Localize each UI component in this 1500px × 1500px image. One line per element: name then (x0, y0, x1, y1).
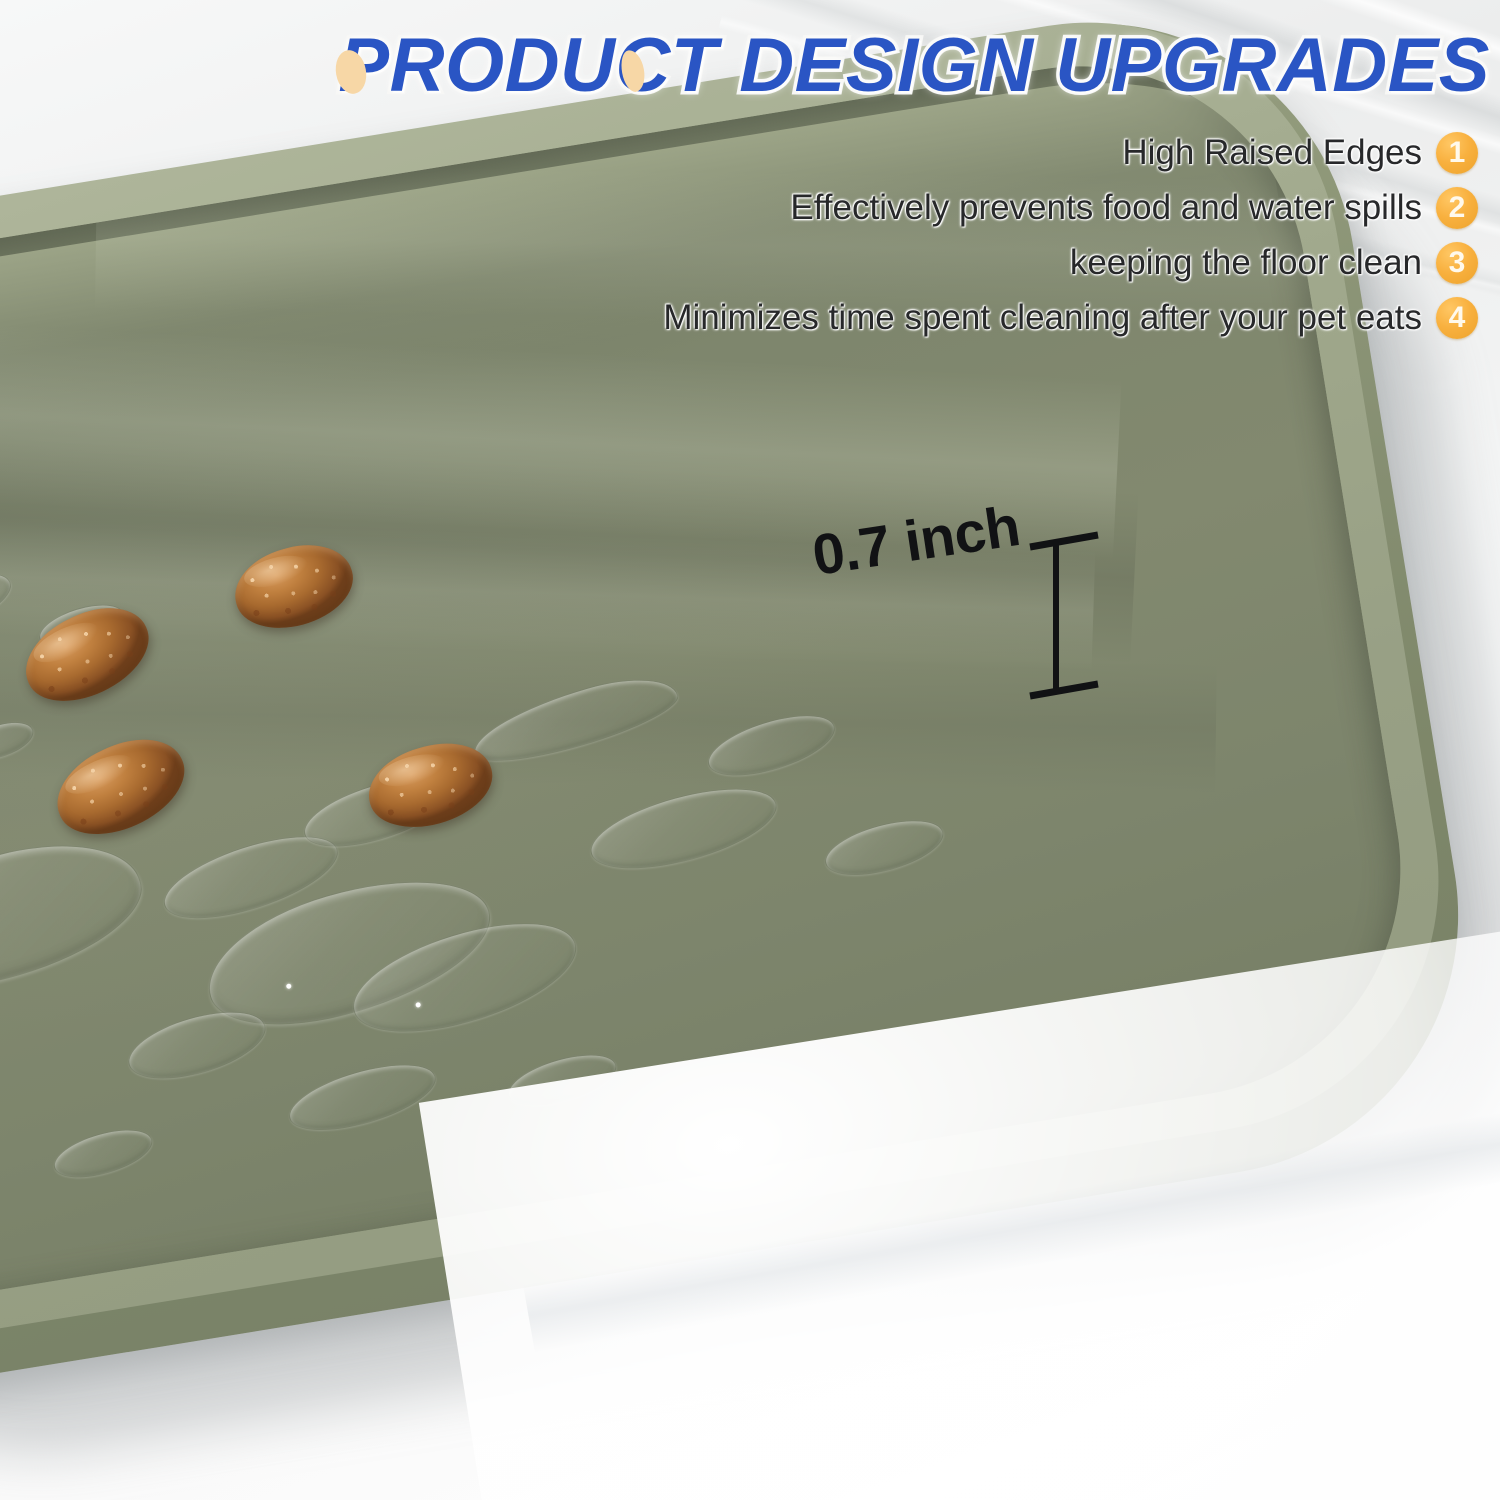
feature-label: High Raised Edges (1122, 133, 1422, 173)
kibble-piece (43, 722, 199, 852)
feature-item-1: High Raised Edges 1 (478, 126, 1478, 179)
water-droplet (282, 1051, 442, 1143)
feature-item-4: Minimizes time spent cleaning after your… (478, 291, 1478, 344)
feature-number-badge: 2 (1436, 187, 1478, 229)
kibble-piece (11, 591, 163, 719)
water-droplet (583, 772, 785, 884)
page-title: PRODUCT DESIGN UPGRADES (0, 22, 1490, 109)
feature-label: keeping the floor clean (1070, 243, 1422, 283)
feature-item-3: keeping the floor clean 3 (478, 236, 1478, 289)
feature-item-2: Effectively prevents food and water spil… (478, 181, 1478, 234)
water-droplet (0, 561, 18, 646)
feature-number-badge: 3 (1436, 242, 1478, 284)
kibble-piece (226, 533, 362, 640)
dimension-marker-icon (1026, 530, 1102, 702)
water-droplet (819, 809, 949, 885)
feature-label: Effectively prevents food and water spil… (790, 188, 1422, 228)
product-feature-image: PRODUCT DESIGN UPGRADES High Raised Edge… (0, 0, 1500, 1500)
feature-number-badge: 1 (1436, 132, 1478, 174)
water-droplet (701, 703, 841, 788)
feature-number-badge: 4 (1436, 297, 1478, 339)
water-droplet (465, 664, 684, 775)
water-droplet (49, 1120, 158, 1187)
water-droplet (0, 715, 38, 767)
feature-label: Minimizes time spent cleaning after your… (663, 298, 1422, 338)
kibble-piece (359, 731, 501, 839)
feature-list: High Raised Edges 1 Effectively prevents… (478, 126, 1478, 346)
